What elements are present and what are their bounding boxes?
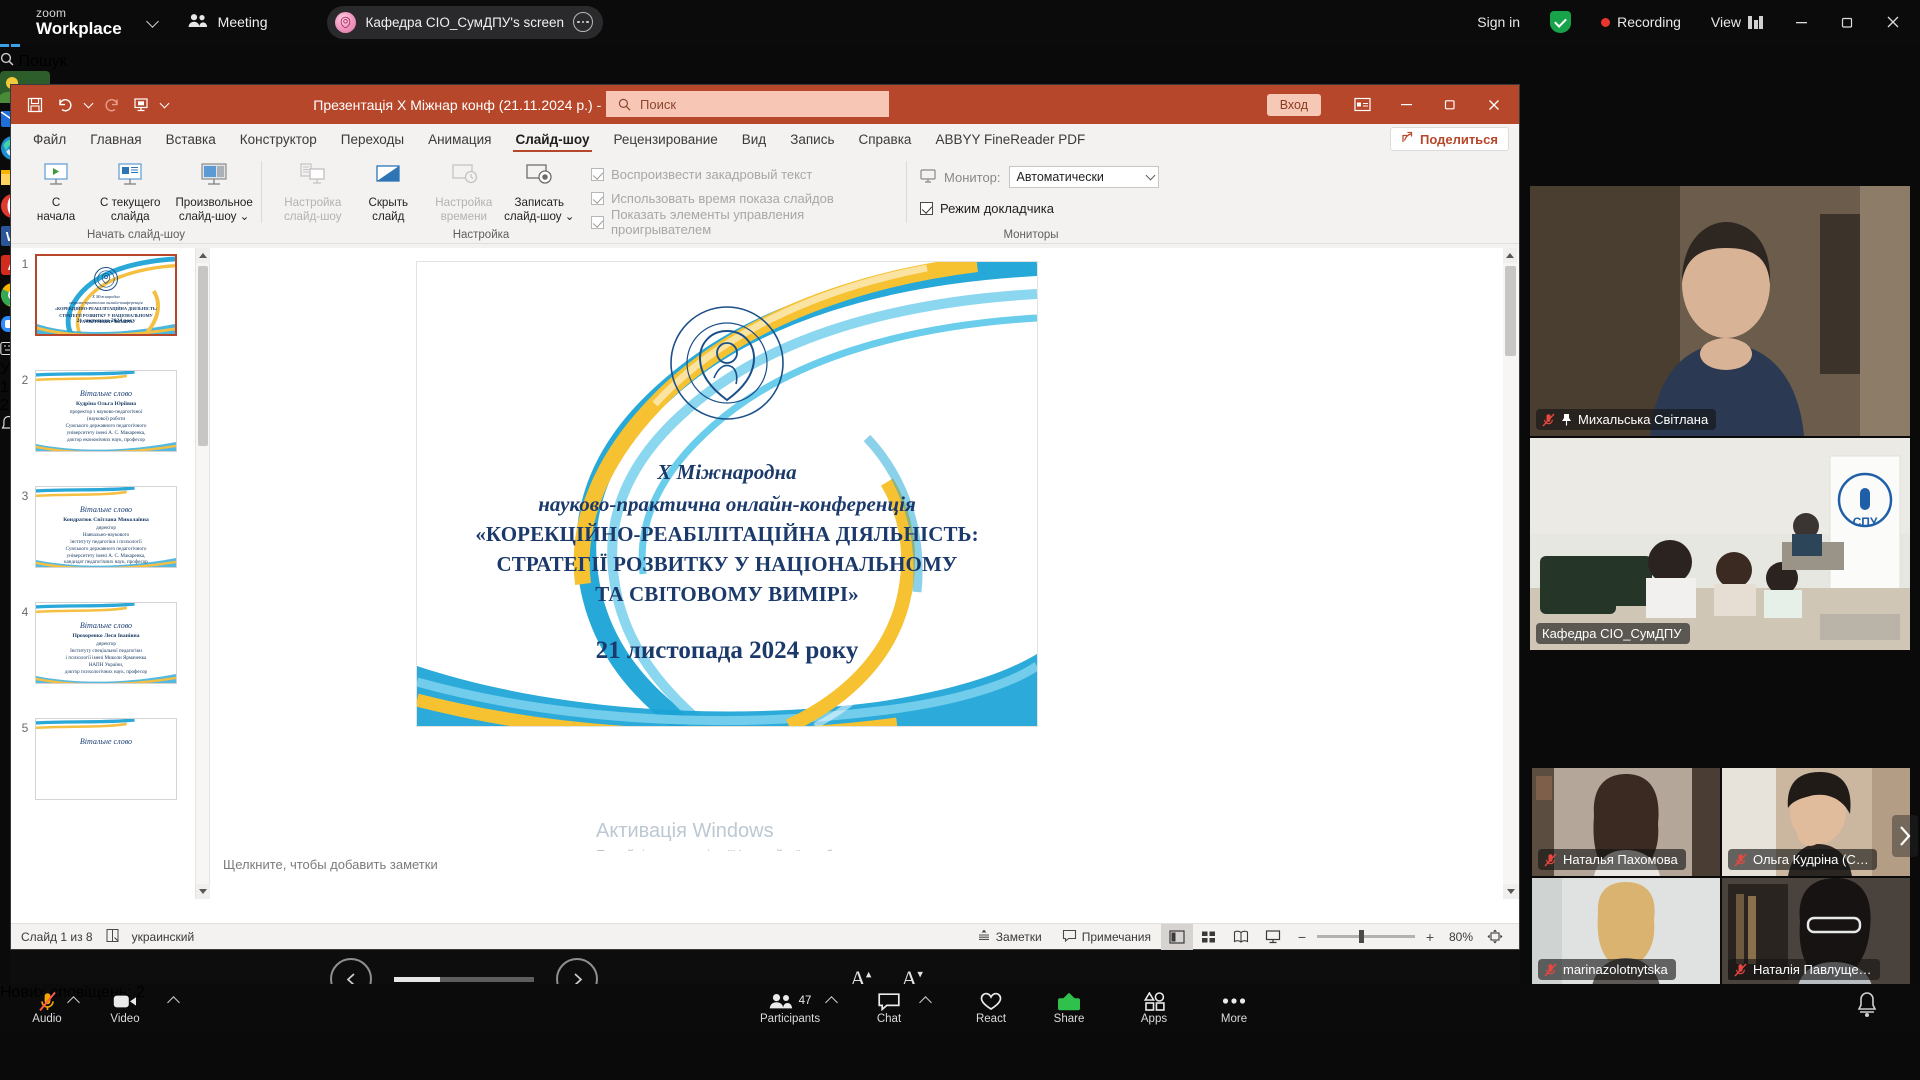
scroll-up-button[interactable] bbox=[1503, 248, 1517, 263]
video-button-label: Video bbox=[110, 1013, 139, 1025]
monitor-label: Монитор: bbox=[944, 170, 1001, 185]
search-icon bbox=[0, 53, 18, 70]
ppt-sign-in-button[interactable]: Вход bbox=[1267, 94, 1321, 116]
slide-thumbnail-2[interactable]: 2 Вітальне слово Кудріна Ольга Юріївна bbox=[11, 364, 195, 452]
current-slide[interactable]: X Міжнародна науково-практична онлайн-ко… bbox=[417, 262, 1037, 726]
slide-thumbnail-5[interactable]: 5 Вітальне слово bbox=[11, 712, 195, 800]
notification-toast[interactable]: Нових сповіщень: 2 bbox=[0, 984, 1920, 1002]
slide-thumbnail-3[interactable]: 3 Вітальне слово Кондратюк Світлана Мико… bbox=[11, 480, 195, 568]
participant-name: Кафедра СІО_СумДПУ bbox=[1542, 626, 1682, 641]
video-tile-pakhomova[interactable]: Наталья Пахомова bbox=[1532, 768, 1720, 876]
tab-insert[interactable]: Вставка bbox=[154, 124, 228, 154]
zoom-meeting-toolbar: Audio Video 47 Participants bbox=[0, 984, 1920, 1032]
chevron-right-icon[interactable] bbox=[1892, 815, 1918, 857]
hide-slide-button[interactable]: Скрыть слайд bbox=[351, 154, 427, 223]
shared-screen-label: Кафедра СІО_СумДПУ's screen bbox=[365, 15, 564, 30]
meeting-tab[interactable]: Meeting bbox=[188, 13, 268, 31]
view-label: View bbox=[1711, 14, 1741, 30]
search-icon bbox=[618, 98, 631, 111]
restore-icon[interactable] bbox=[1824, 0, 1870, 44]
record-dot-icon bbox=[1601, 18, 1610, 27]
participant-name-badge: Наталія Павлуще… bbox=[1728, 959, 1880, 980]
more-dots-icon bbox=[1222, 991, 1246, 1011]
thumbnail-heading: Вітальне слово bbox=[42, 505, 170, 514]
from-beginning-icon bbox=[41, 160, 71, 192]
rehearse-timings-label: Настройка времени bbox=[435, 196, 492, 223]
heart-icon bbox=[980, 991, 1002, 1011]
powerpoint-title-bar: Презентація X Міжнар конф (21.11.2024 р.… bbox=[11, 85, 1519, 124]
apps-button-label: Apps bbox=[1141, 1013, 1167, 1025]
from-beginning-button[interactable]: С начала bbox=[19, 154, 93, 223]
monitor-select[interactable]: Автоматически bbox=[1009, 166, 1159, 188]
participant-name: Ольга Кудріна (С… bbox=[1753, 852, 1869, 867]
comments-button[interactable]: Примечания bbox=[1052, 924, 1161, 950]
slide-counter[interactable]: Слайд 1 из 8 bbox=[21, 930, 93, 944]
people-icon bbox=[188, 13, 208, 31]
custom-slideshow-icon bbox=[198, 160, 230, 192]
notes-icon bbox=[977, 928, 991, 945]
camera-icon bbox=[113, 991, 137, 1011]
zoom-logo-line2: Workplace bbox=[36, 20, 122, 37]
microphone-muted-icon bbox=[1544, 963, 1557, 977]
ribbon-group-start-slideshow: С начала С текущего слайда Произвольное … bbox=[11, 154, 261, 244]
checkbox-play-narrations[interactable]: Воспроизвести закадровый текст bbox=[591, 162, 906, 186]
sign-in-button[interactable]: Sign in bbox=[1462, 0, 1535, 44]
notes-button-label: Заметки bbox=[996, 930, 1042, 944]
more-button[interactable]: More bbox=[1205, 984, 1263, 1032]
fit-slide-icon[interactable] bbox=[1479, 924, 1511, 950]
from-current-slide-icon bbox=[115, 160, 145, 192]
more-button-label: More bbox=[1221, 1013, 1247, 1025]
tab-view[interactable]: Вид bbox=[730, 124, 778, 154]
zoom-slider-handle[interactable] bbox=[1359, 930, 1364, 943]
checkbox-play-narrations-label: Воспроизвести закадровый текст bbox=[611, 167, 812, 182]
avatar bbox=[335, 12, 356, 33]
ribbon-content: С начала С текущего слайда Произвольное … bbox=[11, 154, 1519, 244]
share-button-label: Поделиться bbox=[1420, 132, 1498, 147]
thumbnail-body: директор Навчально-наукового інституту п… bbox=[39, 525, 173, 566]
tab-help[interactable]: Справка bbox=[846, 124, 923, 154]
ribbon-display-options-icon[interactable] bbox=[1341, 87, 1383, 123]
participants-count: 47 bbox=[799, 995, 812, 1007]
participants-options-button[interactable] bbox=[824, 984, 838, 1032]
slide-date: 21 листопада 2024 року bbox=[457, 637, 997, 665]
chevron-down-icon bbox=[1507, 889, 1515, 894]
video-tiles-panel: Михальська Світлана СПУ bbox=[1530, 44, 1920, 984]
slide-number: 3 bbox=[15, 486, 35, 503]
search-box[interactable] bbox=[606, 91, 889, 117]
checkbox-use-timings-label: Использовать время показа слайдов bbox=[611, 191, 834, 206]
tab-home[interactable]: Главная bbox=[78, 124, 153, 154]
zoom-top-bar: zoom Workplace Meeting Кафедра СІО_СумДП… bbox=[0, 0, 1920, 44]
microphone-muted-icon bbox=[1734, 853, 1747, 867]
checkbox-presenter-view-label: Режим докладчика bbox=[940, 201, 1054, 216]
tab-transitions[interactable]: Переходы bbox=[329, 124, 416, 154]
close-icon[interactable] bbox=[1473, 87, 1515, 123]
participants-icon: 47 bbox=[769, 991, 812, 1011]
zoom-slider-track[interactable] bbox=[1317, 935, 1415, 938]
record-slideshow-button[interactable]: Записать слайд-шоу ⌄ bbox=[502, 154, 578, 223]
slide-line-1: X Міжнародна bbox=[457, 457, 997, 489]
chevron-down-icon[interactable] bbox=[148, 16, 160, 28]
apps-button[interactable]: Apps bbox=[1125, 984, 1183, 1032]
ribbon-group-setup: Настройка слайд-шоу Скрыть слайд Настрой… bbox=[261, 154, 906, 244]
video-tile-mykhalska[interactable]: Михальська Світлана bbox=[1530, 186, 1910, 436]
participants-button[interactable]: 47 Participants bbox=[760, 984, 820, 1032]
shield-check-icon bbox=[1550, 11, 1571, 33]
checkbox-icon bbox=[920, 202, 933, 215]
thumbnail-heading: Вітальне слово bbox=[42, 737, 170, 746]
participant-name-badge: Ольга Кудріна (С… bbox=[1728, 849, 1877, 870]
from-current-slide-label: С текущего слайда bbox=[100, 196, 161, 223]
chevron-up-icon bbox=[919, 996, 932, 1009]
zoom-level-label: 80% bbox=[1449, 930, 1473, 944]
rehearse-timings-icon bbox=[449, 160, 479, 192]
layout-icon bbox=[1748, 16, 1763, 29]
microphone-muted-icon bbox=[1544, 853, 1557, 867]
tab-slideshow[interactable]: Слайд-шоу bbox=[503, 124, 601, 154]
thumbnail-body: проректор з науково-педагогічної (науков… bbox=[39, 409, 173, 443]
scroll-up-button[interactable] bbox=[196, 248, 210, 263]
chat-options-button[interactable] bbox=[918, 984, 932, 1032]
accessibility-icon[interactable] bbox=[105, 928, 120, 946]
participant-name: Наталья Пахомова bbox=[1563, 852, 1678, 867]
undo-dropdown-icon[interactable] bbox=[81, 92, 95, 118]
zoom-slider[interactable]: − + 80% bbox=[1289, 929, 1479, 945]
notes-button[interactable]: Заметки bbox=[967, 924, 1052, 950]
chat-button[interactable]: Chat bbox=[860, 984, 918, 1032]
checkbox-icon bbox=[591, 216, 604, 229]
setup-slideshow-label: Настройка слайд-шоу bbox=[284, 196, 342, 223]
audio-options-button[interactable] bbox=[66, 984, 80, 1032]
security-status-button[interactable] bbox=[1535, 0, 1586, 44]
notification-bell-icon[interactable] bbox=[1854, 990, 1880, 1023]
microphone-muted-icon bbox=[1542, 413, 1555, 427]
language-status[interactable]: украинский bbox=[132, 930, 195, 944]
slide-sorter-icon[interactable] bbox=[1193, 924, 1225, 950]
slideshow-view-icon[interactable] bbox=[1257, 924, 1289, 950]
hide-slide-label: Скрыть слайд bbox=[368, 196, 408, 223]
powerpoint-status-bar: Слайд 1 из 8 украинский Заметки bbox=[11, 923, 1519, 949]
svg-text:СПУ: СПУ bbox=[1853, 515, 1878, 529]
record-slideshow-icon bbox=[524, 160, 554, 192]
checkbox-presenter-view[interactable]: Режим докладчика bbox=[920, 196, 1054, 220]
share-icon bbox=[1401, 131, 1414, 147]
slide-text-block[interactable]: X Міжнародна науково-практична онлайн-ко… bbox=[457, 457, 997, 665]
thumbnail-name: Прохоренко Леся Іванівна bbox=[40, 633, 172, 639]
meeting-tab-label: Meeting bbox=[218, 14, 268, 30]
tab-design[interactable]: Конструктор bbox=[228, 124, 329, 154]
ribbon-group-setup-label: Настройка bbox=[391, 229, 571, 241]
share-button[interactable]: Поделиться bbox=[1390, 127, 1509, 151]
video-tile-kafedra[interactable]: СПУ Кафедра СІО_СумДПУ bbox=[1530, 438, 1910, 650]
reading-view-icon[interactable] bbox=[1225, 924, 1257, 950]
slide-number: 5 bbox=[15, 718, 35, 735]
chevron-up-icon bbox=[825, 996, 838, 1009]
powerpoint-editor: 1 bbox=[11, 248, 1519, 949]
shared-screen-pill[interactable]: Кафедра СІО_СумДПУ's screen bbox=[327, 6, 603, 39]
participant-name-badge: marinazolotnytska bbox=[1538, 959, 1676, 980]
taskbar-search-placeholder: Пошук bbox=[18, 53, 66, 70]
activation-title: Активація Windows bbox=[596, 820, 886, 843]
from-current-slide-button[interactable]: С текущего слайда bbox=[93, 154, 167, 223]
record-slideshow-label: Записать слайд-шоу ⌄ bbox=[504, 196, 574, 223]
slide-thumbnail-pane[interactable]: 1 bbox=[11, 248, 196, 899]
monitor-icon bbox=[920, 169, 936, 186]
zoom-logo: zoom Workplace bbox=[36, 7, 122, 37]
slide-number: 4 bbox=[15, 602, 35, 619]
quick-access-toolbar bbox=[11, 91, 171, 119]
share-screen-icon bbox=[1057, 991, 1081, 1011]
comment-icon bbox=[1062, 929, 1077, 945]
start-presentation-icon[interactable] bbox=[127, 91, 155, 119]
participant-name: marinazolotnytska bbox=[1563, 962, 1668, 977]
chevron-down-icon bbox=[199, 889, 207, 894]
ribbon-group-start-slideshow-label: Начать слайд-шоу bbox=[11, 229, 261, 241]
audio-button-label: Audio bbox=[32, 1013, 61, 1025]
view-button[interactable]: View bbox=[1696, 0, 1778, 44]
slide-number: 1 bbox=[15, 254, 35, 271]
tab-record[interactable]: Запись bbox=[778, 124, 846, 154]
participants-button-label: Participants bbox=[760, 1013, 820, 1025]
checkbox-show-media-controls[interactable]: Показать элементы управления проигрывате… bbox=[591, 210, 906, 234]
checkbox-show-media-controls-label: Показать элементы управления проигрывате… bbox=[611, 207, 906, 237]
react-button-label: React bbox=[976, 1013, 1006, 1025]
custom-slideshow-button[interactable]: Произвольное слайд-шоу ⌄ bbox=[167, 154, 261, 223]
powerpoint-window: Презентація X Міжнар конф (21.11.2024 р.… bbox=[10, 84, 1520, 950]
thumbnail-body: директор Інституту спеціальної педагогік… bbox=[39, 641, 173, 675]
participant-name-badge: Наталья Пахомова bbox=[1538, 849, 1686, 870]
tab-file[interactable]: Файл bbox=[21, 124, 78, 154]
scrollbar-thumb[interactable] bbox=[198, 266, 208, 446]
tab-review[interactable]: Рецензирование bbox=[602, 124, 730, 154]
chat-icon bbox=[878, 991, 900, 1011]
line: «КОРЕКЦІЙНО-РЕАБІЛІТАЦІЙНА ДІЯЛЬНІСТЬ: bbox=[45, 306, 167, 312]
react-button[interactable]: React bbox=[962, 984, 1020, 1032]
video-tile-pavlushchenko[interactable]: Наталія Павлуще… bbox=[1722, 878, 1910, 986]
slide-line-5: ТА СВІТОВОМУ ВИМІРІ» bbox=[457, 580, 997, 610]
slide-thumbnail-4[interactable]: 4 Вітальне слово Прохоренко Леся Іванівн… bbox=[11, 596, 195, 684]
zoom-in-icon[interactable]: + bbox=[1423, 929, 1437, 945]
setup-slideshow-icon bbox=[298, 160, 328, 192]
share-screen-button[interactable]: Share bbox=[1040, 984, 1098, 1032]
search-input[interactable] bbox=[640, 97, 860, 112]
tab-abbyy-finereader[interactable]: ABBYY FineReader PDF bbox=[923, 124, 1097, 154]
chevron-up-icon bbox=[1506, 253, 1514, 258]
scroll-down-button[interactable] bbox=[1503, 884, 1519, 899]
recording-label: Recording bbox=[1617, 14, 1681, 30]
apps-icon bbox=[1144, 991, 1165, 1011]
conference-logo-icon bbox=[93, 266, 119, 297]
chat-button-label: Chat bbox=[877, 1013, 901, 1025]
slide-line-3: «КОРЕКЦІЙНО-РЕАБІЛІТАЦІЙНА ДІЯЛЬНІСТЬ: bbox=[457, 520, 997, 550]
scrollbar-thumb[interactable] bbox=[1505, 266, 1516, 356]
zoom-logo-line1: zoom bbox=[36, 7, 122, 19]
close-icon[interactable] bbox=[1870, 0, 1916, 44]
video-tile-marinazolotnytska[interactable]: marinazolotnytska bbox=[1532, 878, 1720, 986]
microphone-muted-icon bbox=[38, 991, 57, 1011]
video-options-button[interactable] bbox=[166, 984, 180, 1032]
video-tile-kudrina[interactable]: Ольга Кудріна (С… bbox=[1722, 768, 1910, 876]
participant-name-badge: Михальська Світлана bbox=[1536, 409, 1716, 430]
thumbnail-scrollbar[interactable] bbox=[196, 248, 210, 899]
chevron-up-icon bbox=[67, 996, 80, 1009]
hide-slide-icon bbox=[373, 160, 403, 192]
microphone-muted-icon bbox=[1734, 963, 1747, 977]
tab-animations[interactable]: Анимация bbox=[416, 124, 503, 154]
chevron-down-icon bbox=[1145, 171, 1155, 181]
save-icon[interactable] bbox=[21, 91, 49, 119]
comments-button-label: Примечания bbox=[1082, 930, 1151, 944]
video-button[interactable]: Video bbox=[96, 984, 154, 1032]
monitor-select-value: Автоматически bbox=[1017, 170, 1104, 184]
normal-view-icon[interactable] bbox=[1161, 924, 1193, 950]
checkbox-icon bbox=[591, 168, 604, 181]
slide-number: 2 bbox=[15, 370, 35, 387]
undo-icon[interactable] bbox=[51, 91, 79, 119]
slide-line-2: науково-практична онлайн-конференція bbox=[457, 489, 997, 521]
custom-slideshow-label: Произвольное слайд-шоу ⌄ bbox=[175, 196, 252, 223]
restore-icon[interactable] bbox=[1429, 87, 1471, 123]
customize-qat-icon[interactable] bbox=[157, 92, 171, 118]
ribbon-group-monitors-label: Мониторы bbox=[906, 229, 1156, 241]
chevron-up-icon bbox=[199, 253, 207, 258]
minimize-icon[interactable] bbox=[1385, 87, 1427, 123]
thumbnail-heading: Вітальне слово bbox=[42, 621, 170, 630]
from-beginning-label: С начала bbox=[37, 196, 75, 223]
checkbox-icon bbox=[591, 192, 604, 205]
slide-vertical-scrollbar[interactable] bbox=[1503, 248, 1519, 899]
recording-indicator[interactable]: Recording bbox=[1586, 0, 1696, 44]
thumbnail-1-date: 21 листопада 2024 року bbox=[37, 318, 175, 324]
slide-progress-bar[interactable] bbox=[394, 977, 534, 982]
slide-canvas-area[interactable]: X Міжнародна науково-практична онлайн-ко… bbox=[211, 248, 1503, 899]
scroll-down-button[interactable] bbox=[196, 884, 210, 899]
participant-name-badge: Кафедра СІО_СумДПУ bbox=[1536, 623, 1690, 644]
chevron-up-icon bbox=[167, 996, 180, 1009]
sign-in-label: Sign in bbox=[1477, 14, 1520, 30]
participant-name: Михальська Світлана bbox=[1578, 412, 1708, 427]
slide-line-4: СТРАТЕГІЇ РОЗВИТКУ У НАЦІОНАЛЬНОМУ bbox=[457, 550, 997, 580]
rehearse-timings-button[interactable]: Настройка времени bbox=[426, 154, 502, 223]
ribbon-tabs: Файл Главная Вставка Конструктор Переход… bbox=[11, 124, 1519, 154]
more-dots-icon[interactable] bbox=[573, 12, 593, 32]
setup-slideshow-button[interactable]: Настройка слайд-шоу bbox=[275, 154, 351, 223]
conference-logo-icon bbox=[668, 304, 786, 427]
pin-icon bbox=[1561, 413, 1572, 426]
thumbnail-name: Кудріна Ольга Юріївна bbox=[40, 401, 172, 407]
thumbnail-heading: Вітальне слово bbox=[42, 389, 170, 398]
monitor-row: Монитор: Автоматически bbox=[920, 164, 1159, 190]
slide-thumbnail-1[interactable]: 1 bbox=[11, 248, 195, 336]
participant-name: Наталія Павлуще… bbox=[1753, 962, 1872, 977]
minimize-icon[interactable] bbox=[1778, 0, 1824, 44]
redo-icon[interactable] bbox=[97, 91, 125, 119]
ribbon-group-monitors: Монитор: Автоматически Режим докладчика … bbox=[906, 154, 1156, 244]
share-screen-button-label: Share bbox=[1054, 1013, 1085, 1025]
thumbnail-name: Кондратюк Світлана Миколаївна bbox=[40, 517, 172, 523]
notes-pane[interactable]: Щелкните, чтобы добавить заметки bbox=[211, 851, 1503, 899]
zoom-out-icon[interactable]: − bbox=[1295, 929, 1309, 945]
